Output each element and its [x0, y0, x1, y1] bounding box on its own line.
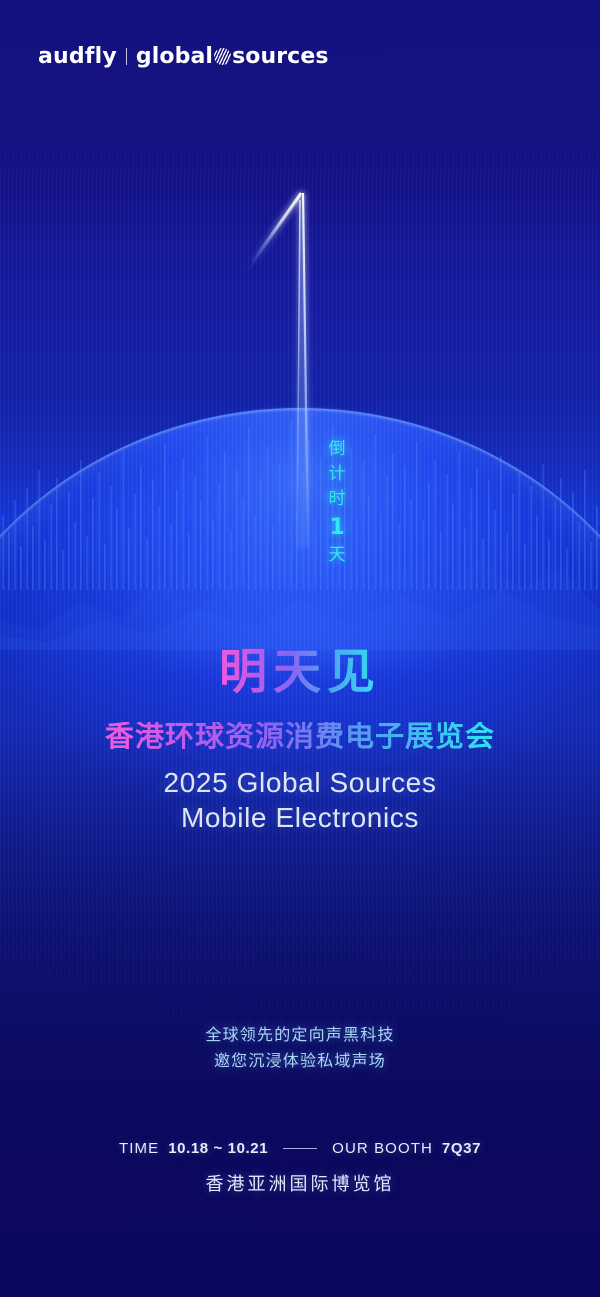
audfly-wordmark: audfly	[38, 44, 117, 69]
countdown-char-0: 倒	[329, 437, 346, 462]
headline-block: 明天见 香港环球资源消费电子展览会 2025 Global Sources Mo…	[0, 648, 600, 835]
countdown-char-1: 计	[329, 462, 346, 487]
countdown-numeral-1-graphic	[0, 0, 600, 640]
countdown-vertical-label: 倒 计 时 1 天	[322, 437, 352, 568]
footer-info-row: TIME 10.18 ~ 10.21 OUR BOOTH 7Q37	[0, 1140, 600, 1157]
en-event-title: 2025 Global Sources Mobile Electronics	[0, 765, 600, 835]
main-headline-wrap: 明天见	[0, 648, 600, 696]
global-word: global	[136, 44, 213, 69]
tagline-line1: 全球领先的定向声黑科技	[0, 1022, 600, 1048]
countdown-unit: 天	[329, 543, 346, 568]
booth-value: 7Q37	[442, 1140, 481, 1157]
countdown-char-2: 时	[329, 487, 346, 512]
en-title-line1: 2025 Global Sources	[0, 765, 600, 800]
waveform-divider	[0, 1090, 600, 1124]
logo-divider	[126, 48, 127, 65]
cn-title-wrap: 香港环球资源消费电子展览会	[0, 696, 600, 751]
tagline-line2: 邀您沉浸体验私域声场	[0, 1048, 600, 1074]
tagline-block: 全球领先的定向声黑科技 邀您沉浸体验私域声场	[0, 1022, 600, 1074]
booth-label: OUR BOOTH	[332, 1140, 433, 1157]
en-title-line2: Mobile Electronics	[0, 800, 600, 835]
time-value: 10.18 ~ 10.21	[168, 1140, 268, 1157]
global-sources-wordmark: global sources	[136, 44, 329, 69]
countdown-number: 1	[329, 514, 344, 542]
striped-sphere-icon	[214, 48, 231, 65]
footer-block: TIME 10.18 ~ 10.21 OUR BOOTH 7Q37 香港亚洲国际…	[0, 1140, 600, 1196]
time-label: TIME	[119, 1140, 159, 1157]
main-headline: 明天见	[219, 648, 381, 696]
venue-name: 香港亚洲国际博览馆	[0, 1170, 600, 1196]
audio-waveform-icon	[230, 1090, 370, 1124]
brand-logo-lockup: audfly global sources	[38, 44, 329, 69]
poster-canvas: audfly global sources 倒 计 时 1 天 明天见 香港环球…	[0, 0, 600, 1297]
cn-event-title: 香港环球资源消费电子展览会	[105, 722, 495, 751]
footer-separator	[283, 1148, 317, 1149]
sources-word: sources	[232, 44, 328, 69]
